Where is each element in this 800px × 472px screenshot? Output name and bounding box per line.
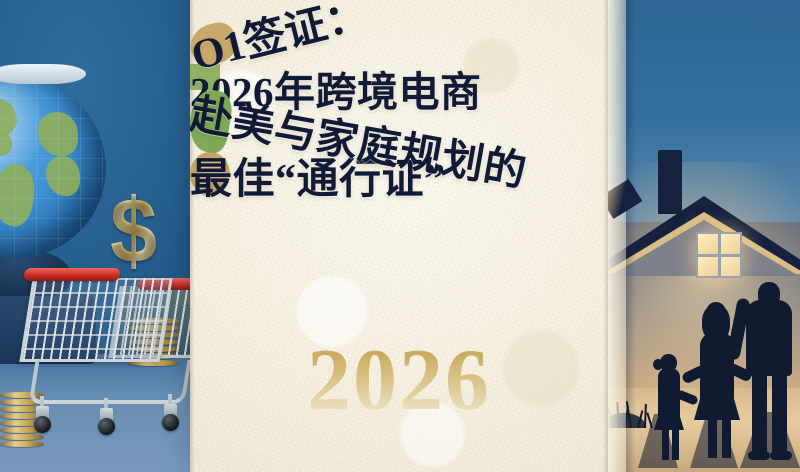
cart-basket [19, 278, 172, 362]
title-line-3: 赴美与家庭规划的 [190, 87, 235, 155]
page-title: O1签证： 2026年跨境电商 赴美与家庭规划的 最佳“通行证” [190, 24, 608, 196]
cart-wheel [98, 418, 115, 435]
year-label: 2026 [190, 332, 608, 430]
lit-window-icon [696, 232, 742, 278]
father-body [746, 300, 792, 376]
center-title-panel: O1签证： 2026年跨境电商 赴美与家庭规划的 最佳“通行证” 2026 [190, 0, 608, 472]
title-line-1: O1签证： [190, 19, 240, 69]
window-pane [721, 257, 741, 277]
cart-frame [29, 360, 190, 404]
cart-handle [23, 268, 121, 281]
window-pane [721, 234, 741, 254]
mother-head [706, 302, 726, 324]
shopping-cart-icon [18, 256, 190, 446]
window-pane [698, 257, 718, 277]
window-pane [698, 234, 718, 254]
panel-column-shadow [626, 0, 636, 472]
title-line-4: 最佳“通行证” [190, 152, 230, 196]
cart-wheel [34, 416, 51, 433]
globe-cap [0, 64, 86, 84]
left-image-panel: $ [0, 0, 190, 472]
right-image-panel [608, 0, 800, 472]
cart-wheel [162, 414, 179, 431]
poster-canvas: $ [0, 0, 800, 472]
panel-left-column [608, 0, 626, 472]
globe-icon [0, 78, 106, 258]
globe-meridian-grid [0, 78, 106, 258]
